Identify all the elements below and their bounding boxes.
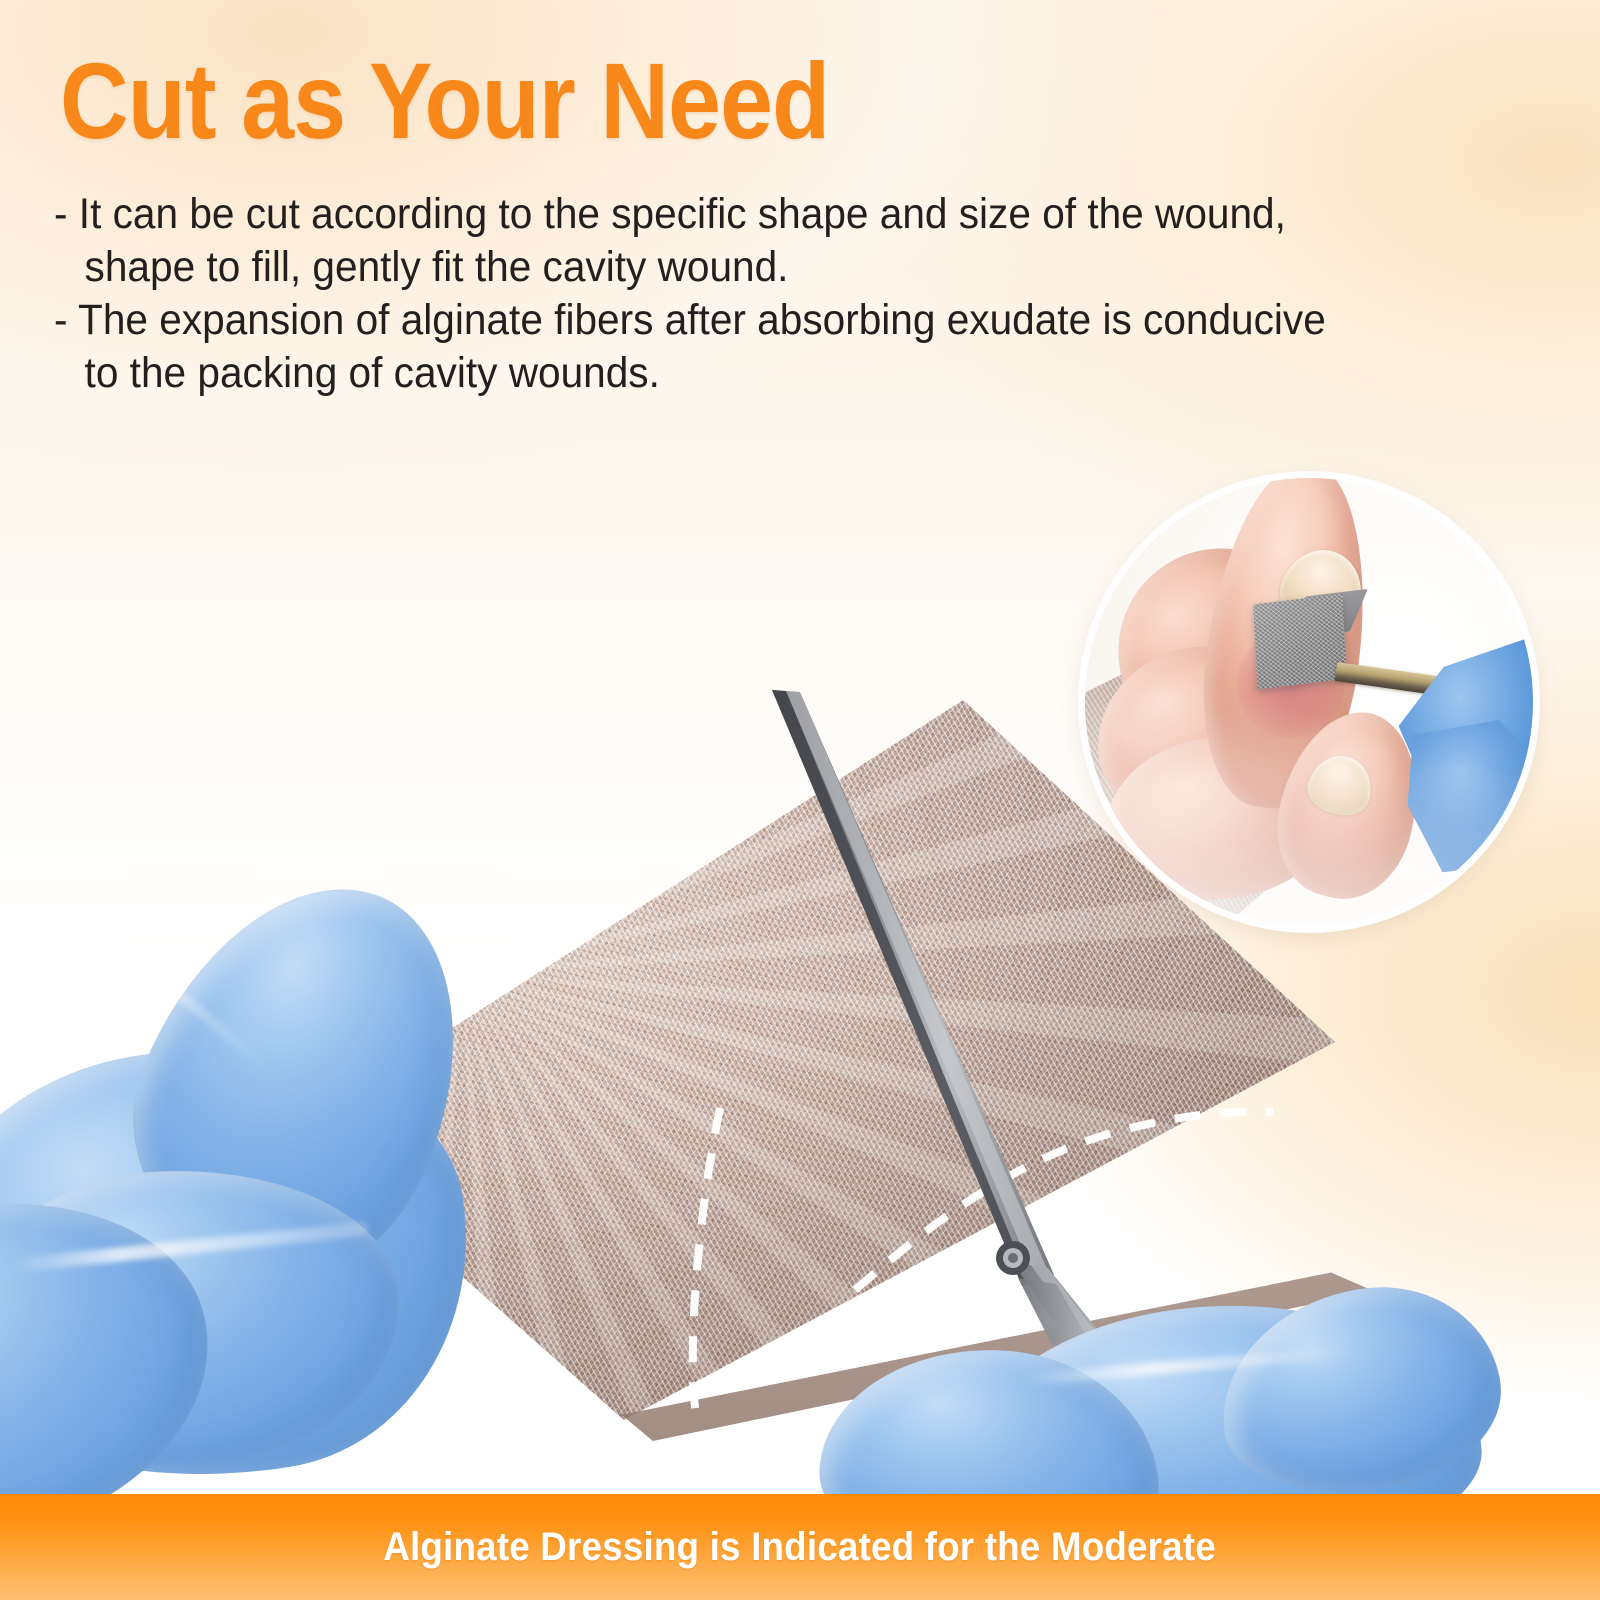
poster-root: Cut as Your Need - It can be cut accordi… xyxy=(0,0,1600,1600)
bottom-banner: Alginate Dressing is Indicated for the M… xyxy=(0,1494,1600,1600)
inset-photo-content xyxy=(1085,478,1533,926)
page-title: Cut as Your Need xyxy=(60,38,829,163)
inset-photo-circle xyxy=(1085,478,1533,926)
bullet-line-4: to the packing of cavity wounds. xyxy=(54,347,1487,400)
inset-white-fade xyxy=(1085,478,1533,926)
bullet-line-1: - It can be cut according to the specifi… xyxy=(54,188,1487,241)
bullet-list: - It can be cut according to the specifi… xyxy=(54,188,1554,400)
gloved-hand-left xyxy=(0,870,580,1490)
bullet-line-3: - The expansion of alginate fibers after… xyxy=(54,294,1487,347)
product-photo xyxy=(0,400,1600,1500)
banner-text: Alginate Dressing is Indicated for the M… xyxy=(384,1525,1217,1570)
bullet-line-2: shape to fill, gently fit the cavity wou… xyxy=(54,241,1487,294)
